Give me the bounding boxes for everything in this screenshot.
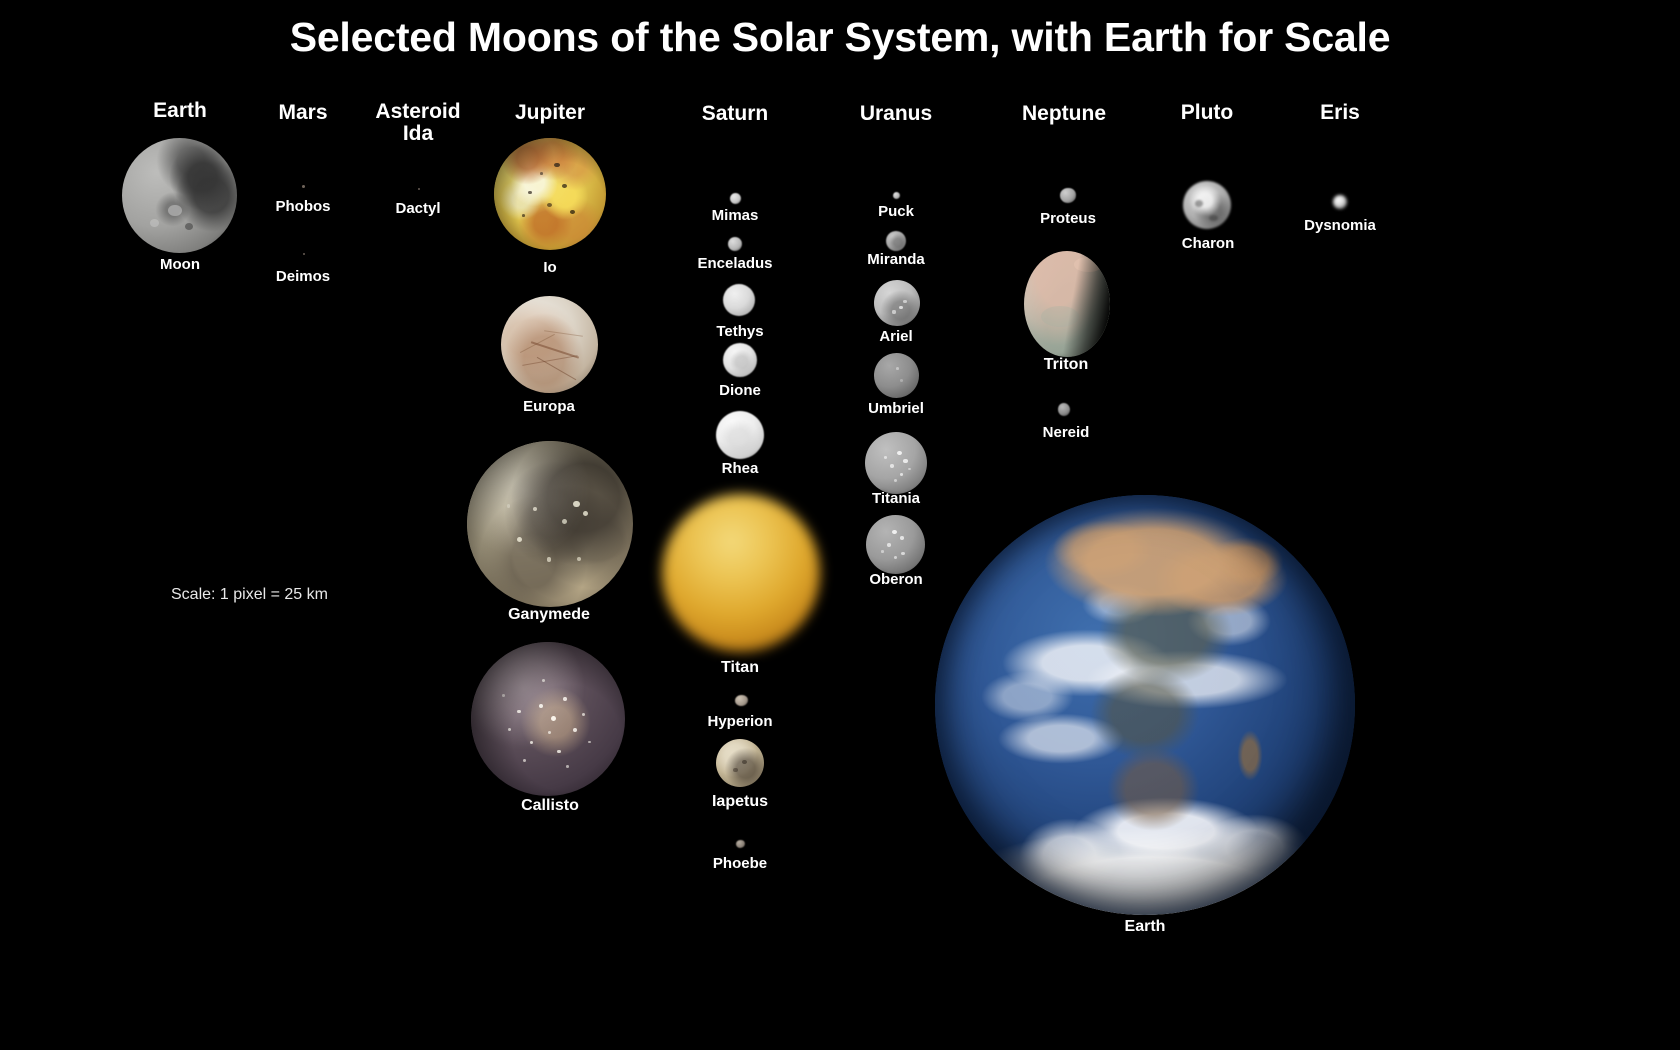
column-header-asteroid-ida: Asteroid Ida <box>360 101 476 145</box>
body-dactyl <box>418 188 420 190</box>
label-mimas: Mimas <box>675 207 795 224</box>
body-rhea <box>716 411 764 459</box>
label-ganymede: Ganymede <box>484 606 614 624</box>
body-phoebe <box>736 840 745 848</box>
column-header-uranus: Uranus <box>838 103 954 125</box>
body-mimas <box>730 193 741 204</box>
label-triton: Triton <box>1006 356 1126 374</box>
label-rhea: Rhea <box>680 460 800 477</box>
body-puck <box>893 192 900 199</box>
column-header-pluto: Pluto <box>1149 102 1265 124</box>
body-earth <box>935 495 1355 915</box>
body-moon <box>122 138 237 253</box>
label-oberon: Oberon <box>836 571 956 588</box>
body-titan <box>662 494 820 652</box>
poster-canvas: Selected Moons of the Solar System, with… <box>0 0 1680 1050</box>
body-europa <box>501 296 598 393</box>
body-nereid <box>1058 403 1070 416</box>
body-dysnomia <box>1333 195 1347 209</box>
body-tethys <box>723 284 755 316</box>
body-dione <box>723 343 757 377</box>
label-phoebe: Phoebe <box>680 855 800 872</box>
label-enceladus: Enceladus <box>675 255 795 272</box>
label-charon: Charon <box>1148 235 1268 252</box>
page-title: Selected Moons of the Solar System, with… <box>0 14 1680 61</box>
label-titan: Titan <box>680 659 800 677</box>
body-proteus <box>1060 188 1076 203</box>
label-tethys: Tethys <box>680 323 800 340</box>
label-dysnomia: Dysnomia <box>1280 217 1400 234</box>
scale-note: Scale: 1 pixel = 25 km <box>171 586 328 604</box>
body-titania <box>865 432 927 494</box>
label-hyperion: Hyperion <box>680 713 800 730</box>
body-callisto <box>471 642 625 796</box>
column-header-earth: Earth <box>122 100 238 122</box>
label-callisto: Callisto <box>487 797 613 815</box>
label-puck: Puck <box>836 203 956 220</box>
label-io: Io <box>490 259 610 276</box>
label-ariel: Ariel <box>836 328 956 345</box>
column-header-saturn: Saturn <box>677 103 793 125</box>
label-earth: Earth <box>1085 918 1205 936</box>
body-triton <box>1024 251 1110 357</box>
body-ariel <box>874 280 920 326</box>
label-titania: Titania <box>836 490 956 507</box>
column-header-mars: Mars <box>245 102 361 124</box>
label-moon: Moon <box>120 256 240 273</box>
body-deimos <box>303 253 305 255</box>
body-oberon <box>866 515 925 574</box>
column-header-eris: Eris <box>1282 102 1398 124</box>
label-umbriel: Umbriel <box>836 400 956 417</box>
label-dione: Dione <box>680 382 800 399</box>
label-dactyl: Dactyl <box>358 200 478 217</box>
label-europa: Europa <box>489 398 609 415</box>
body-iapetus <box>716 739 764 787</box>
column-header-jupiter: Jupiter <box>492 102 608 124</box>
label-miranda: Miranda <box>836 251 956 268</box>
label-nereid: Nereid <box>1006 424 1126 441</box>
body-charon <box>1183 181 1231 229</box>
label-phobos: Phobos <box>243 198 363 215</box>
label-proteus: Proteus <box>1008 210 1128 227</box>
body-miranda <box>886 231 906 251</box>
body-io <box>494 138 606 250</box>
label-deimos: Deimos <box>243 268 363 285</box>
body-umbriel <box>874 353 919 398</box>
label-iapetus: Iapetus <box>680 793 800 811</box>
body-phobos <box>302 185 305 188</box>
column-header-neptune: Neptune <box>1006 103 1122 125</box>
body-hyperion <box>735 695 748 706</box>
body-ganymede <box>467 441 633 607</box>
body-enceladus <box>728 237 742 251</box>
